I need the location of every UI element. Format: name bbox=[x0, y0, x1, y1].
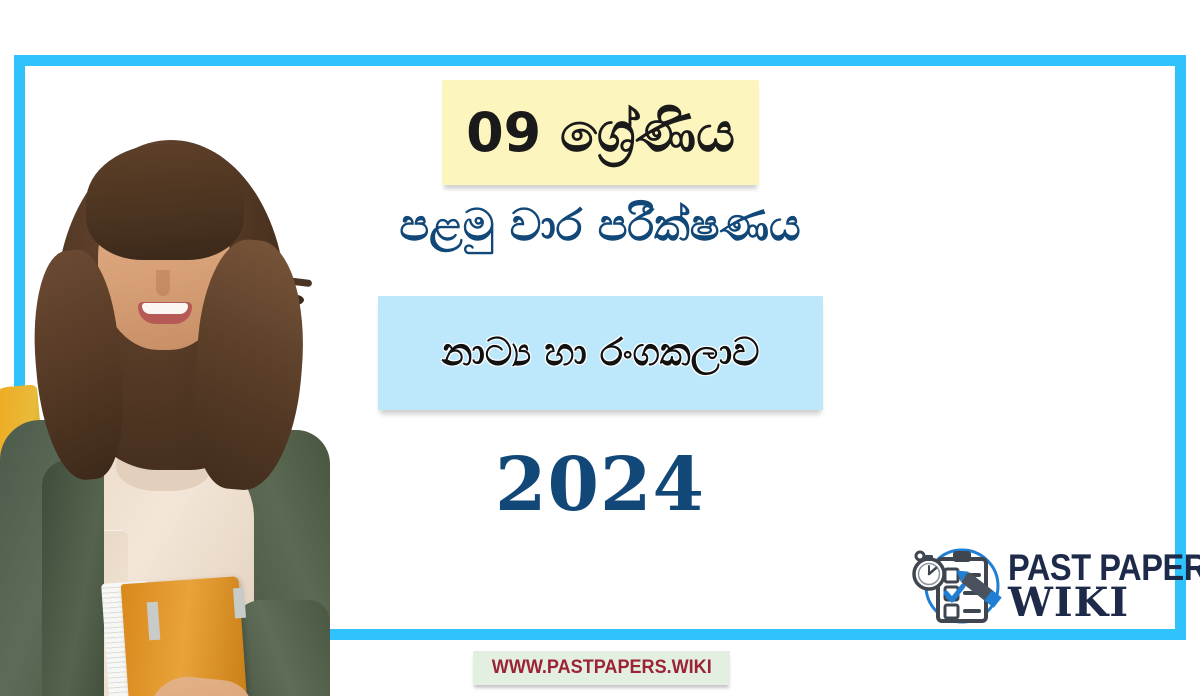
site-logo[interactable]: PAST PAPERS WIKI bbox=[912, 540, 1172, 632]
poster-page: 09 ශ්‍රේණිය පළමු වාර පරීක්ෂණය නාට්‍ය හා … bbox=[0, 0, 1200, 696]
website-url-text: WWW.PASTPAPERS.WIKI bbox=[492, 657, 712, 679]
nose bbox=[156, 270, 170, 296]
website-url-badge[interactable]: WWW.PASTPAPERS.WIKI bbox=[473, 651, 730, 685]
year-label: 2024 bbox=[0, 448, 1200, 522]
subject-banner: නාට්‍ය හා රංගකලාව bbox=[378, 296, 823, 410]
subject-label: නාට්‍ය හා රංගකලාව bbox=[442, 332, 760, 374]
bookmark-corner bbox=[233, 588, 246, 619]
jacket-right-sleeve bbox=[232, 600, 330, 696]
logo-line-1: PAST PAPERS bbox=[1008, 552, 1200, 585]
smiling-mouth bbox=[138, 302, 192, 324]
teeth bbox=[142, 303, 188, 314]
grade-label: 09 ශ්‍රේණිය bbox=[466, 106, 735, 160]
logo-wordmark: PAST PAPERS WIKI bbox=[1008, 552, 1200, 620]
exam-title: පළමු වාර පරීක්ෂණය bbox=[0, 202, 1200, 250]
grade-banner: 09 ශ්‍රේණිය bbox=[442, 80, 759, 185]
logo-line-2: WIKI bbox=[1008, 585, 1200, 620]
clipboard-checklist-icon bbox=[912, 541, 1004, 631]
